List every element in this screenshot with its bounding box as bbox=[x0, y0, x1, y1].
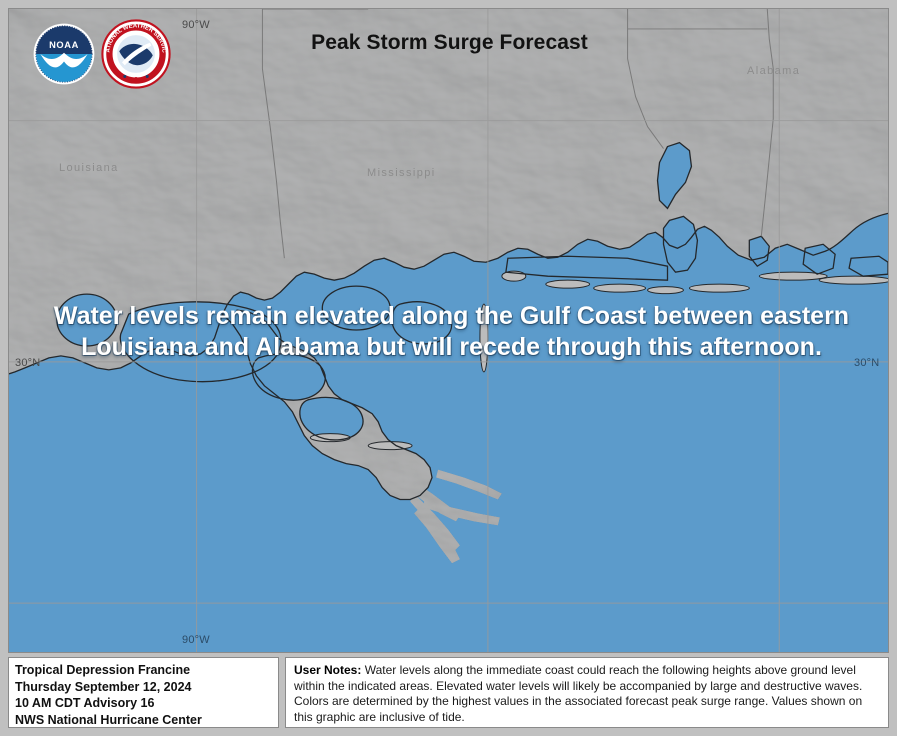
storm-surge-graphic: Peak Storm Surge Forecast NOAA NATIONAL … bbox=[0, 0, 897, 736]
issuing-office: NWS National Hurricane Center bbox=[15, 712, 278, 729]
state-label-mississippi: Mississippi bbox=[367, 167, 436, 179]
svg-text:NOAA: NOAA bbox=[49, 40, 79, 50]
noaa-logo: NOAA bbox=[33, 23, 95, 85]
nws-logo-svg: NATIONAL WEATHER SERVICE bbox=[101, 19, 171, 89]
graticule-label-30n-right: 30°N bbox=[854, 357, 879, 369]
storm-name: Tropical Depression Francine bbox=[15, 662, 278, 679]
storm-info-panel: Tropical Depression Francine Thursday Se… bbox=[8, 657, 279, 728]
nws-logo: NATIONAL WEATHER SERVICE bbox=[101, 19, 171, 89]
advisory-time: 10 AM CDT Advisory 16 bbox=[15, 695, 278, 712]
bottom-bar: Tropical Depression Francine Thursday Se… bbox=[8, 657, 889, 728]
graticule-label-30n-left: 30°N bbox=[15, 357, 40, 369]
user-notes-label: User Notes: bbox=[294, 663, 361, 677]
map-canvas[interactable] bbox=[9, 9, 888, 652]
state-label-louisiana: Louisiana bbox=[59, 162, 119, 174]
user-notes-panel: User Notes: Water levels along the immed… bbox=[285, 657, 889, 728]
graticule-label-90w-top: 90°W bbox=[182, 19, 210, 31]
advisory-date: Thursday September 12, 2024 bbox=[15, 679, 278, 696]
graticule-label-90w-bottom: 90°W bbox=[182, 634, 210, 646]
state-label-alabama: Alabama bbox=[747, 65, 800, 77]
user-notes-body: Water levels along the immediate coast c… bbox=[294, 663, 862, 724]
user-notes-text: User Notes: Water levels along the immed… bbox=[294, 663, 880, 725]
map-frame[interactable]: Peak Storm Surge Forecast NOAA NATIONAL … bbox=[8, 8, 889, 653]
noaa-logo-svg: NOAA bbox=[33, 23, 95, 85]
